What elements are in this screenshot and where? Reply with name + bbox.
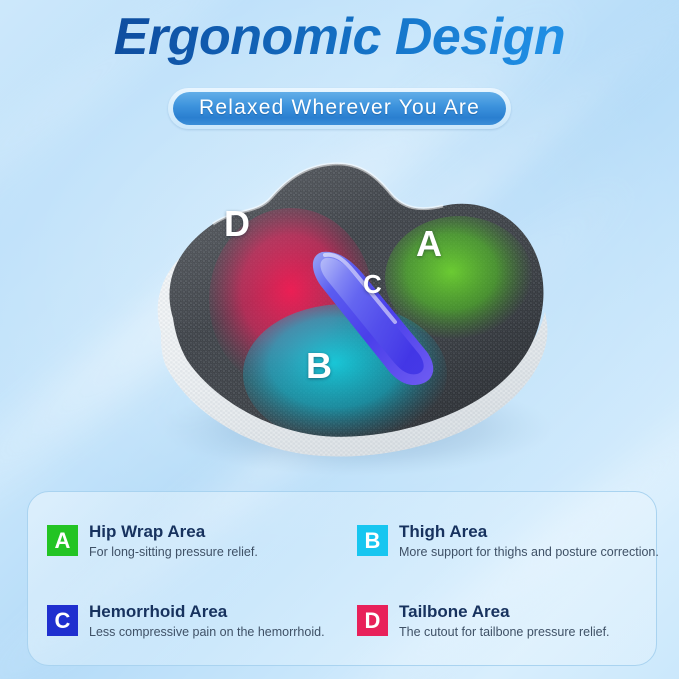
product-cushion-image: D A C B: [95, 128, 595, 473]
legend-item-a[interactable]: A Hip Wrap Area For long-sitting pressur…: [47, 522, 357, 570]
legend-title-c: Hemorrhoid Area: [89, 602, 325, 622]
legend-desc-c: Less compressive pain on the hemorrhoid.: [89, 624, 325, 640]
subtitle-container: Relaxed Wherever You Are: [0, 88, 679, 129]
legend-title-b: Thigh Area: [399, 522, 659, 542]
legend-grid: A Hip Wrap Area For long-sitting pressur…: [47, 522, 647, 650]
legend-text-a: Hip Wrap Area For long-sitting pressure …: [89, 522, 258, 560]
legend-item-d[interactable]: D Tailbone Area The cutout for tailbone …: [357, 602, 647, 650]
infographic-page: Ergonomic Design Relaxed Wherever You Ar…: [0, 0, 679, 679]
legend-item-c[interactable]: C Hemorrhoid Area Less compressive pain …: [47, 602, 357, 650]
legend-badge-c: C: [47, 605, 78, 636]
legend-text-b: Thigh Area More support for thighs and p…: [399, 522, 659, 560]
legend-badge-b: B: [357, 525, 388, 556]
legend-badge-a: A: [47, 525, 78, 556]
legend-desc-d: The cutout for tailbone pressure relief.: [399, 624, 610, 640]
legend-title-d: Tailbone Area: [399, 602, 610, 622]
legend-text-c: Hemorrhoid Area Less compressive pain on…: [89, 602, 325, 640]
subtitle-text: Relaxed Wherever You Are: [173, 92, 506, 125]
legend-desc-b: More support for thighs and posture corr…: [399, 544, 659, 560]
legend-desc-a: For long-sitting pressure relief.: [89, 544, 258, 560]
page-title: Ergonomic Design: [0, 8, 679, 68]
legend-item-b[interactable]: B Thigh Area More support for thighs and…: [357, 522, 647, 570]
legend-text-d: Tailbone Area The cutout for tailbone pr…: [399, 602, 610, 640]
legend-badge-d: D: [357, 605, 388, 636]
subtitle-pill: Relaxed Wherever You Are: [168, 88, 511, 129]
legend-title-a: Hip Wrap Area: [89, 522, 258, 542]
